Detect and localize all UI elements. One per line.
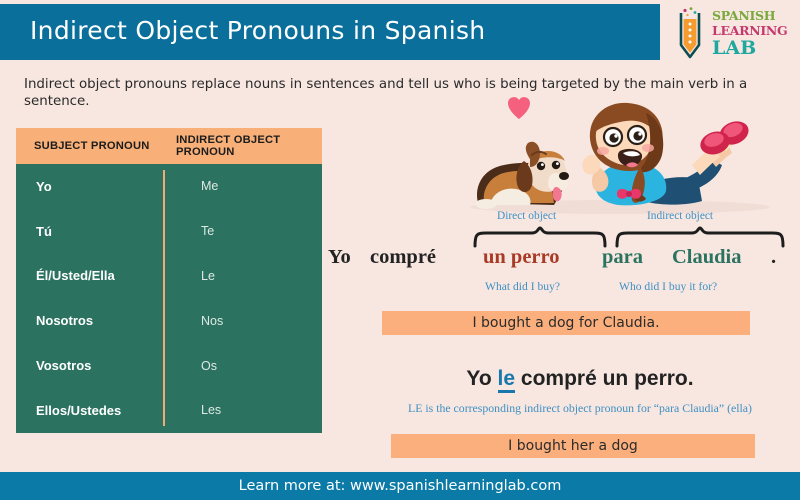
- heart-icon: [508, 97, 530, 119]
- explanation-note: LE is the corresponding indirect object …: [360, 401, 800, 416]
- word-rest-2: compré un perro.: [521, 367, 694, 390]
- cell-subject: Vosotros: [16, 358, 163, 373]
- cell-pronoun: Nos: [163, 314, 322, 328]
- cell-pronoun: Me: [163, 179, 322, 193]
- sentence-spanish-2: Yo le compré un perro.: [360, 367, 800, 391]
- column-header-indirect: INDIRECT OBJECT PRONOUN: [160, 134, 322, 158]
- word-direct-object: un perro: [483, 246, 560, 269]
- girl-with-beagle-dog-illustration: [470, 95, 790, 220]
- cell-pronoun: Les: [163, 403, 322, 417]
- beagle-dog: [475, 142, 569, 209]
- sentence-spanish-1: Yo compré un perro para Claudia .: [322, 246, 800, 276]
- table-row: Yo Me: [16, 164, 322, 209]
- table-body: Yo Me Tú Te Él/Usted/Ella Le Nosotros No…: [16, 164, 322, 433]
- table-row: Nosotros Nos: [16, 298, 322, 343]
- word-para: para: [602, 246, 643, 269]
- logo-line-learning: LEARNING: [712, 23, 798, 38]
- cell-pronoun: Te: [163, 224, 322, 238]
- infographic-page: Indirect Object Pronouns in Spanish SPAN…: [0, 0, 800, 500]
- word-yo-2: Yo: [466, 367, 491, 390]
- girl-character: [582, 103, 752, 206]
- brand-logo[interactable]: SPANISH LEARNING LAB: [668, 4, 796, 62]
- cell-pronoun: Os: [163, 359, 322, 373]
- test-tube-pencil-icon: [670, 7, 710, 61]
- cell-subject: Nosotros: [16, 313, 163, 328]
- logo-line-spanish: SPANISH: [712, 8, 798, 23]
- brace-indirect-object: [614, 226, 786, 248]
- label-direct-object: Direct object: [497, 210, 556, 222]
- cell-subject: Él/Usted/Ella: [16, 268, 163, 283]
- word-claudia: Claudia: [672, 246, 742, 269]
- pronoun-table: SUBJECT PRONOUN INDIRECT OBJECT PRONOUN …: [16, 128, 322, 433]
- logo-line-lab: LAB: [712, 38, 798, 58]
- footer-link[interactable]: Learn more at: www.spanishlearninglab.co…: [239, 478, 562, 494]
- translation-text-1: I bought a dog for Claudia.: [472, 315, 659, 331]
- page-title: Indirect Object Pronouns in Spanish: [30, 16, 485, 45]
- example-sentence-2: Yo le compré un perro. LE is the corresp…: [360, 367, 800, 427]
- table-row: Él/Usted/Ella Le: [16, 254, 322, 299]
- cell-pronoun: Le: [163, 269, 322, 283]
- table-column-divider: [163, 170, 165, 426]
- label-indirect-object: Indirect object: [647, 210, 713, 222]
- table-header-row: SUBJECT PRONOUN INDIRECT OBJECT PRONOUN: [16, 128, 322, 164]
- question-indirect-object: Who did I buy it for?: [619, 280, 717, 293]
- brace-direct-object: [472, 226, 608, 248]
- column-header-subject: SUBJECT PRONOUN: [16, 140, 160, 152]
- cell-subject: Ellos/Ustedes: [16, 403, 163, 418]
- cell-subject: Yo: [16, 179, 163, 194]
- translation-bar-2: I bought her a dog: [391, 434, 755, 458]
- sentence-period: .: [771, 246, 776, 269]
- word-yo: Yo: [328, 246, 351, 269]
- translation-bar-1: I bought a dog for Claudia.: [382, 311, 750, 335]
- cell-subject: Tú: [16, 224, 163, 239]
- footer-bar: Learn more at: www.spanishlearninglab.co…: [0, 472, 800, 500]
- word-compre: compré: [370, 246, 436, 269]
- table-row: Ellos/Ustedes Les: [16, 388, 322, 433]
- table-row: Tú Te: [16, 209, 322, 254]
- example-sentence-1: Direct object Indirect object Yo compré …: [322, 210, 800, 305]
- table-row: Vosotros Os: [16, 343, 322, 388]
- word-le-highlight: le: [498, 367, 516, 393]
- logo-wordmark: SPANISH LEARNING LAB: [712, 8, 798, 58]
- translation-text-2: I bought her a dog: [508, 438, 638, 454]
- question-direct-object: What did I buy?: [485, 280, 560, 293]
